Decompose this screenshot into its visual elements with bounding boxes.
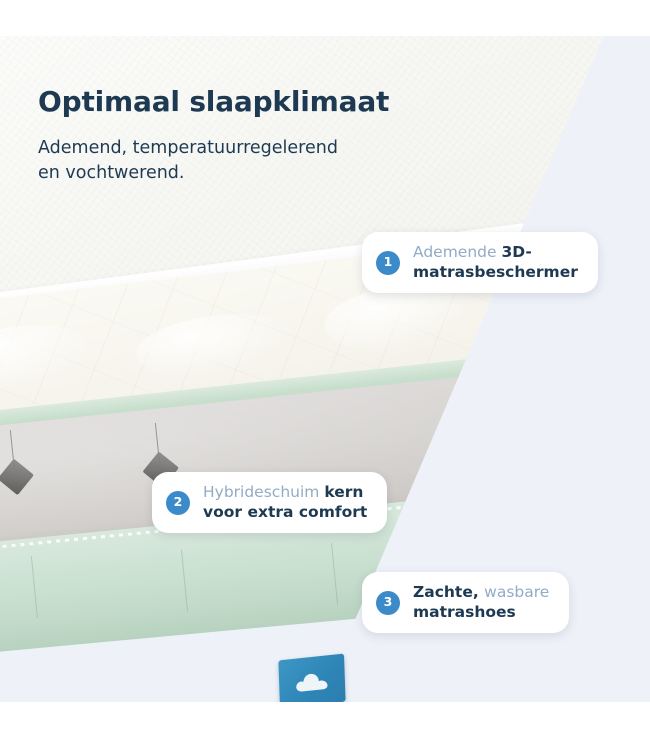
callout-3-bold-2: matrashoes <box>413 603 516 621</box>
callout-1-bold-1: 3D- <box>501 243 531 261</box>
background-bottom-white-band <box>0 702 650 750</box>
callout-2-bold-2: voor extra comfort <box>203 503 367 521</box>
callout-text-2: Hybrideschuim kern voor extra comfort <box>203 483 367 522</box>
callout-1-soft: Ademende <box>413 243 501 261</box>
callout-2-bold-1: kern <box>324 483 363 501</box>
callout-3-bold-1: Zachte, <box>413 583 484 601</box>
brand-logo-tag <box>278 654 345 702</box>
callout-2-soft: Hybrideschuim <box>203 483 324 501</box>
callout-text-1: Ademende 3D- matrasbeschermer <box>413 243 578 282</box>
callout-badge-1: 1 <box>376 251 400 275</box>
callout-3-soft: wasbare <box>484 583 549 601</box>
callout-badge-2: 2 <box>166 491 190 515</box>
callout-hybrideschuim-kern[interactable]: 2 Hybrideschuim kern voor extra comfort <box>152 472 387 533</box>
page-subtitle: Ademend, temperatuurregelerend en vochtw… <box>38 136 389 186</box>
callout-text-3: Zachte, wasbare matrashoes <box>413 583 549 622</box>
infographic-canvas: Optimaal slaapklimaat Ademend, temperatu… <box>0 0 650 750</box>
page-title: Optimaal slaapklimaat <box>38 86 389 118</box>
callout-badge-3: 3 <box>376 591 400 615</box>
callout-3d-matrasbeschermer[interactable]: 1 Ademende 3D- matrasbeschermer <box>362 232 598 293</box>
subtitle-line-1: Ademend, temperatuurregelerend <box>38 138 338 158</box>
text-block: Optimaal slaapklimaat Ademend, temperatu… <box>38 86 389 186</box>
cloud-icon <box>293 668 332 694</box>
callout-1-bold-2: matrasbeschermer <box>413 263 578 281</box>
callout-wasbare-matrashoes[interactable]: 3 Zachte, wasbare matrashoes <box>362 572 569 633</box>
subtitle-line-2: en vochtwerend. <box>38 163 184 183</box>
